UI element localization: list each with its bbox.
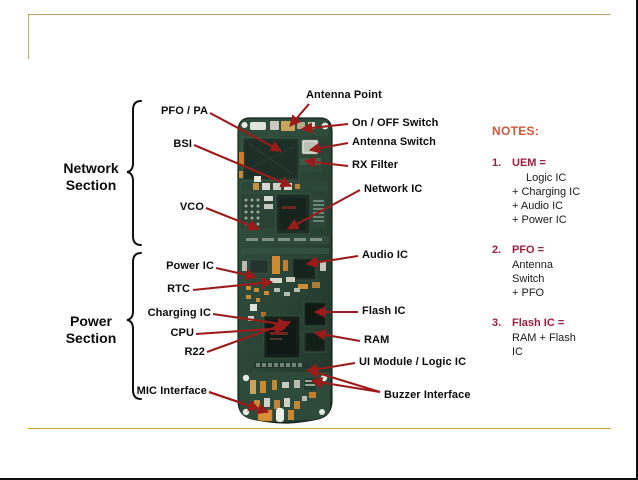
notes-title: NOTES: xyxy=(492,124,624,138)
gold-rule-left xyxy=(28,14,29,59)
pcb-illustration xyxy=(236,116,334,424)
note-1-line-3: + Audio IC xyxy=(512,199,624,213)
callout-vco: VCO xyxy=(0,201,204,214)
notes-panel: NOTES: 1. UEM = Logic IC + Charging IC +… xyxy=(492,124,624,375)
callout-rtc: RTC xyxy=(0,283,190,296)
note-3-head: Flash IC = xyxy=(512,316,624,330)
note-3-body: Flash IC = RAM + Flash IC xyxy=(512,316,624,359)
note-1-line-2: + Charging IC xyxy=(512,185,624,199)
callout-buzzer-interface: Buzzer Interface xyxy=(384,389,471,402)
callout-flash-ic: Flash IC xyxy=(362,305,406,318)
note-1-line-4: + Power IC xyxy=(512,213,624,227)
gold-rule-top xyxy=(28,14,611,15)
callout-on-off-switch: On / OFF Switch xyxy=(352,117,438,130)
note-2-head: PFO = xyxy=(512,243,624,257)
note-2-line-1: Antenna xyxy=(512,258,624,272)
note-2-number: 2. xyxy=(492,243,512,300)
slide-canvas: Network Section Power Section PFO / PA B… xyxy=(0,0,638,480)
section-label-network: Network Section xyxy=(52,160,130,194)
section-network-line2: Section xyxy=(66,177,117,193)
callout-ui-module: UI Module / Logic IC xyxy=(359,356,466,369)
callout-cpu: CPU xyxy=(0,327,194,340)
callout-power-ic: Power IC xyxy=(0,260,214,273)
callout-network-ic: Network IC xyxy=(364,183,422,196)
note-1-head: UEM = xyxy=(512,156,624,170)
callout-rx-filter: RX Filter xyxy=(352,159,398,172)
callout-charging-ic: Charging IC xyxy=(0,307,211,320)
callout-audio-ic: Audio IC xyxy=(362,249,408,262)
note-item-3: 3. Flash IC = RAM + Flash IC xyxy=(492,316,624,359)
note-1-line-1: Logic IC xyxy=(512,171,624,185)
callout-ram: RAM xyxy=(364,334,389,347)
note-3-line-2: IC xyxy=(512,345,624,359)
callout-pfo-pa: PFO / PA xyxy=(0,105,208,118)
note-3-number: 3. xyxy=(492,316,512,359)
callout-antenna-point: Antenna Point xyxy=(306,89,382,102)
callout-mic-interface: MIC Interface xyxy=(0,385,207,398)
callout-antenna-switch: Antenna Switch xyxy=(352,136,436,149)
gold-rule-bottom xyxy=(28,428,611,429)
section-network-line1: Network xyxy=(63,160,118,176)
note-3-line-1: RAM + Flash xyxy=(512,331,624,345)
pcb-board-photo xyxy=(236,116,334,424)
callout-bsi: BSI xyxy=(0,138,192,151)
note-1-number: 1. xyxy=(492,156,512,227)
note-2-body: PFO = Antenna Switch + PFO xyxy=(512,243,624,300)
note-item-1: 1. UEM = Logic IC + Charging IC + Audio … xyxy=(492,156,624,227)
note-2-line-2: Switch xyxy=(512,272,624,286)
note-item-2: 2. PFO = Antenna Switch + PFO xyxy=(492,243,624,300)
callout-r22: R22 xyxy=(0,346,205,359)
note-1-body: UEM = Logic IC + Charging IC + Audio IC … xyxy=(512,156,624,227)
note-2-line-3: + PFO xyxy=(512,286,624,300)
